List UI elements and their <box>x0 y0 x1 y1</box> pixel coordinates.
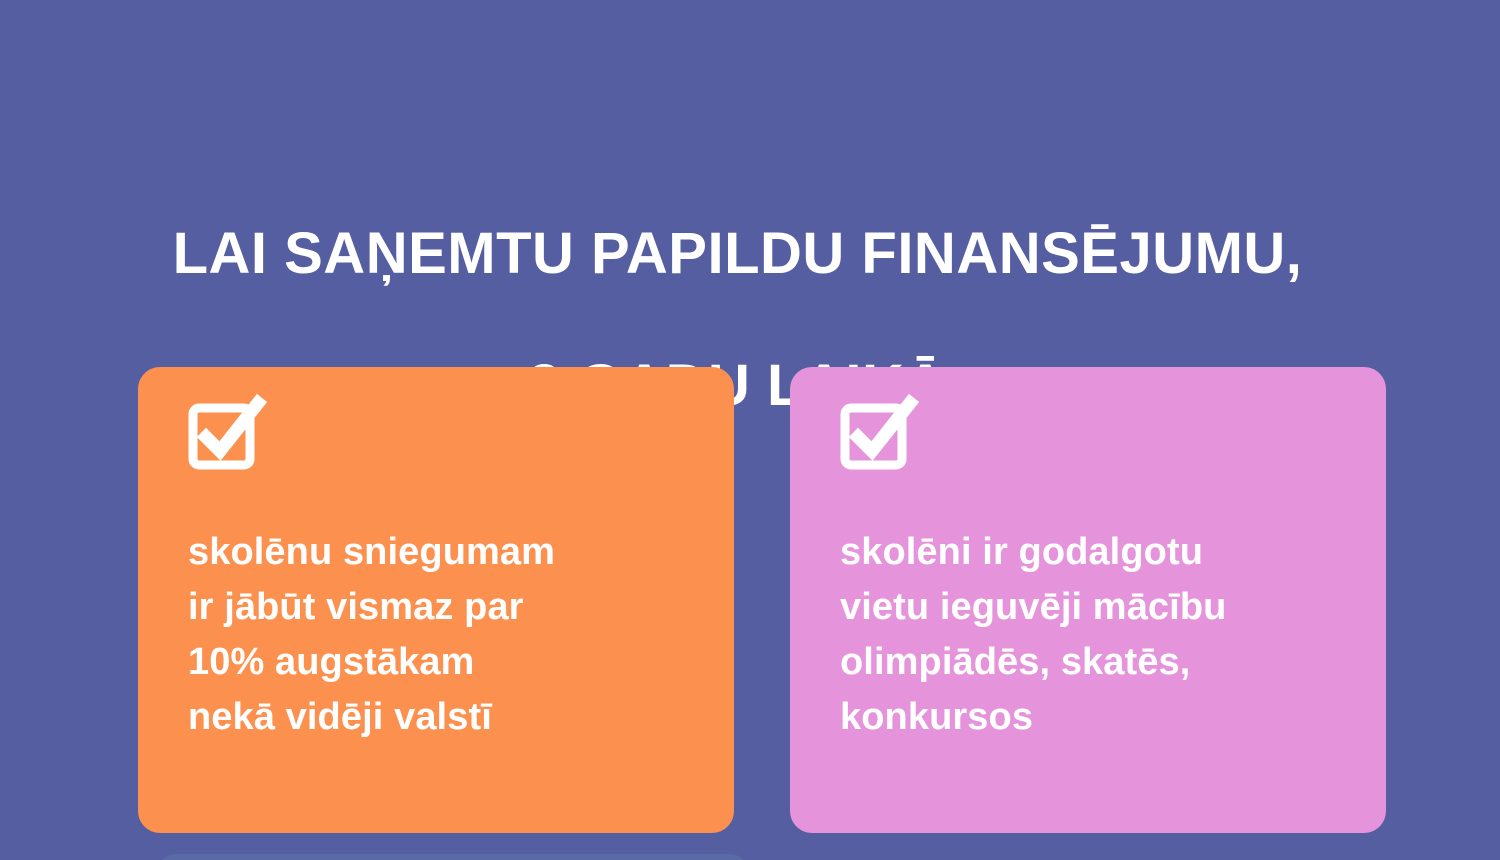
checked-checkbox-icon <box>840 399 914 473</box>
requirement-card-performance: skolēnu sniegumam ir jābūt vismaz par 10… <box>138 367 734 833</box>
page-title-line-1: LAI SAŅEMTU PAPILDU FINANSĒJUMU, <box>0 221 1475 287</box>
requirement-card-text: skolēnu sniegumam ir jābūt vismaz par 10… <box>188 525 700 745</box>
requirement-card-text: skolēni ir godalgotu vietu ieguvēji mācī… <box>840 525 1352 745</box>
checked-checkbox-icon <box>188 399 262 473</box>
slide-canvas: LAI SAŅEMTU PAPILDU FINANSĒJUMU, 3 GADU … <box>0 0 1500 860</box>
requirement-card-awards: skolēni ir godalgotu vietu ieguvēji mācī… <box>790 367 1386 833</box>
next-card-partial <box>155 854 751 860</box>
